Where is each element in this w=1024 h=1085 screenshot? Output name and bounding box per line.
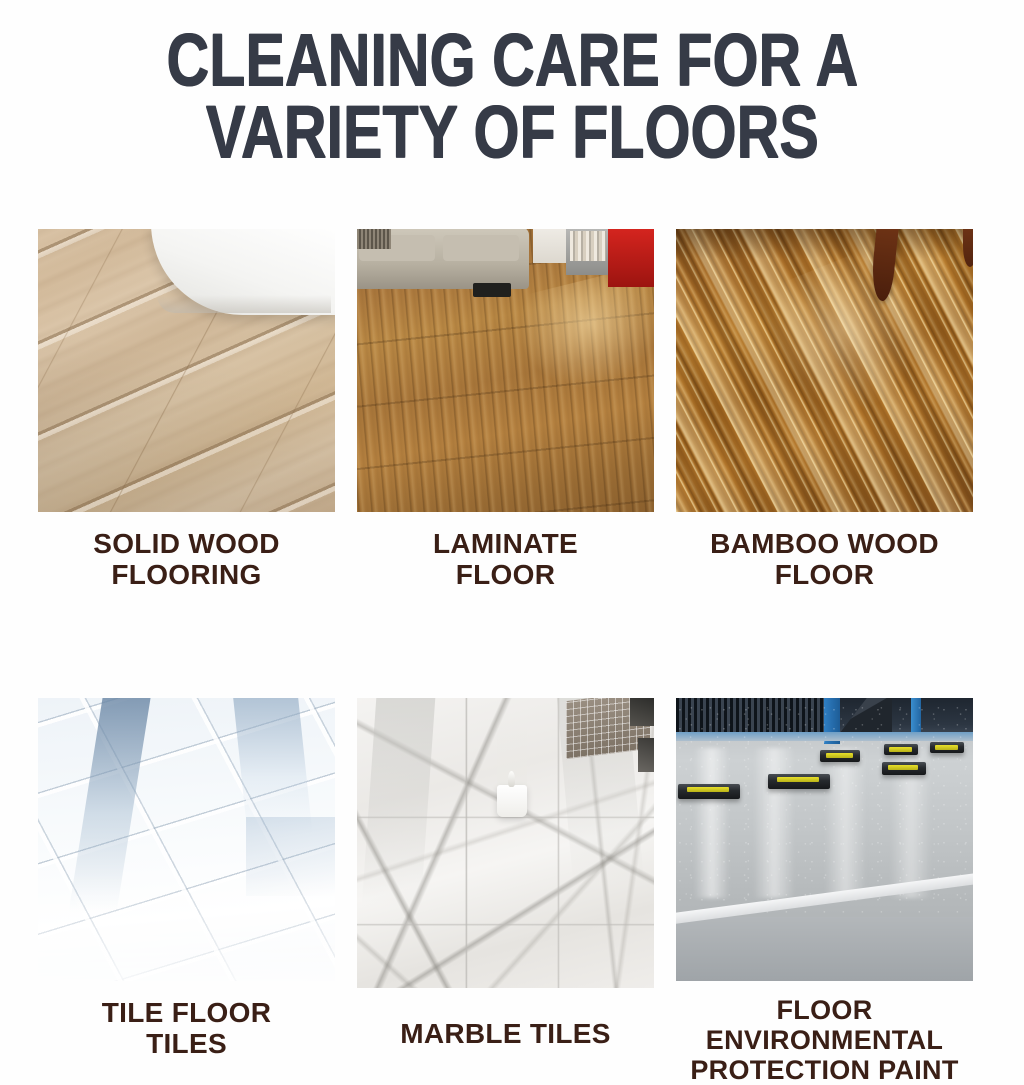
bookshelf	[566, 229, 610, 275]
wheel-stop	[678, 784, 740, 799]
page-title-line-2: VARIETY OF FLOORS	[102, 96, 921, 168]
tile-floor-tiles-image	[38, 698, 335, 981]
striped-cushion	[357, 229, 391, 249]
top-shadow-gradient	[676, 229, 973, 259]
white-bedding	[151, 229, 335, 315]
tile-reflection-right	[233, 698, 313, 834]
caption-tile-floor-tiles: TILE FLOOR TILES	[38, 981, 335, 1059]
laminate-floor-image	[357, 229, 654, 512]
marble-tiles-image	[357, 698, 654, 988]
grid-item-solid-wood-flooring[interactable]: SOLID WOOD FLOORING	[38, 229, 335, 590]
floor-type-grid: SOLID WOOD FLOORING LAMINATE FLOOR	[38, 229, 996, 1085]
dark-corner-object-lower	[638, 738, 654, 772]
tile-floor-highlight	[38, 873, 335, 981]
page-title-line-1: CLEANING CARE FOR A	[102, 24, 921, 96]
wheel-stop	[882, 762, 926, 775]
caption-bamboo-wood-floor: BAMBOO WOOD FLOOR	[676, 512, 973, 590]
grid-item-tile-floor-tiles[interactable]: TILE FLOOR TILES	[38, 698, 335, 1085]
floor-environmental-protection-paint-image	[676, 698, 973, 981]
grid-item-laminate-floor[interactable]: LAMINATE FLOOR	[357, 229, 654, 590]
bamboo-wood-floor-image	[676, 229, 973, 512]
wheel-stop	[930, 742, 964, 753]
grid-row-top: SOLID WOOD FLOORING LAMINATE FLOOR	[38, 229, 996, 590]
red-cabinet	[608, 229, 654, 287]
white-candle	[497, 785, 527, 817]
solid-wood-flooring-image	[38, 229, 335, 512]
grid-item-bamboo-wood-floor[interactable]: BAMBOO WOOD FLOOR	[676, 229, 973, 590]
caption-laminate-floor: LAMINATE FLOOR	[357, 512, 654, 590]
chair-leg-secondary	[963, 229, 973, 267]
caption-solid-wood-flooring: SOLID WOOD FLOORING	[38, 512, 335, 590]
wheel-stop	[884, 744, 918, 755]
grid-row-bottom: TILE FLOOR TILES MARBLE TILES	[38, 698, 996, 1085]
marble-surface	[357, 698, 654, 988]
wheel-stop	[768, 774, 830, 789]
wheel-stop	[820, 750, 860, 762]
page-title: CLEANING CARE FOR A VARIETY OF FLOORS	[0, 24, 1024, 168]
epoxy-floor-foreground	[676, 917, 973, 981]
caption-floor-environmental-protection-paint: FLOOR ENVIRONMENTAL PROTECTION PAINT	[676, 981, 973, 1085]
grid-item-marble-tiles[interactable]: MARBLE TILES	[357, 698, 654, 1085]
dark-corner-object	[630, 698, 654, 726]
caption-marble-tiles: MARBLE TILES	[357, 988, 654, 1049]
grid-item-floor-environmental-protection-paint[interactable]: FLOOR ENVIRONMENTAL PROTECTION PAINT	[676, 698, 973, 1085]
